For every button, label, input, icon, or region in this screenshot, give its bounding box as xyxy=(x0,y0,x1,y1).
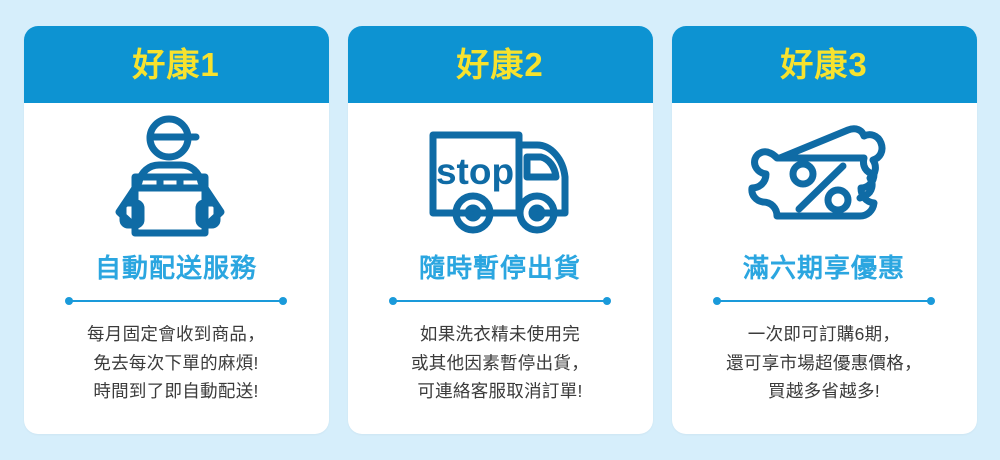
stop-icon-label: stop xyxy=(436,151,514,192)
divider-line xyxy=(717,300,931,302)
card-1-title: 自動配送服務 xyxy=(95,255,257,281)
card-3-header-title: 好康3 xyxy=(780,48,867,81)
card-2-header-title: 好康2 xyxy=(456,48,543,81)
discount-coupon-percent-icon xyxy=(744,111,904,251)
stop-truck-icon: stop xyxy=(417,111,583,251)
card-2-body: stop 隨時暫停出貨 如果洗衣精未使用完 或其他因素暫停出貨， 可連絡客服取消… xyxy=(348,103,653,434)
card-1-header: 好康1 xyxy=(24,26,329,103)
card-1-header-title: 好康1 xyxy=(132,48,219,81)
benefit-card-3: 好康3 滿六期享優惠 一次即可訂購6期， 還可享市場超優惠價格， xyxy=(672,26,977,434)
card-3-description-line-3: 買越多省越多! xyxy=(726,377,922,406)
divider-line xyxy=(69,300,283,302)
card-3-divider xyxy=(713,295,935,307)
card-1-divider xyxy=(65,295,287,307)
delivery-person-box-icon xyxy=(101,111,251,251)
card-1-body: 自動配送服務 每月固定會收到商品， 免去每次下單的麻煩! 時間到了即自動配送! xyxy=(24,103,329,434)
divider-dot-right xyxy=(279,297,287,305)
card-3-description-line-2: 還可享市場超優惠價格， xyxy=(726,349,922,378)
card-1-description-line-2: 免去每次下單的麻煩! xyxy=(87,349,265,378)
benefit-card-2: 好康2 stop 隨時暫停出貨 xyxy=(348,26,653,434)
card-2-title: 隨時暫停出貨 xyxy=(419,255,581,281)
card-3-description: 一次即可訂購6期， 還可享市場超優惠價格， 買越多省越多! xyxy=(726,320,922,406)
card-1-description-line-3: 時間到了即自動配送! xyxy=(87,377,265,406)
divider-line xyxy=(393,300,607,302)
card-1-description-line-1: 每月固定會收到商品， xyxy=(87,320,265,349)
benefits-card-board: 好康1 自動配送服務 xyxy=(0,0,1000,460)
card-1-description: 每月固定會收到商品， 免去每次下單的麻煩! 時間到了即自動配送! xyxy=(87,320,265,406)
card-2-header: 好康2 xyxy=(348,26,653,103)
card-2-description-line-3: 可連絡客服取消訂單! xyxy=(411,377,589,406)
card-3-body: 滿六期享優惠 一次即可訂購6期， 還可享市場超優惠價格， 買越多省越多! xyxy=(672,103,977,434)
divider-dot-right xyxy=(603,297,611,305)
card-2-description-line-1: 如果洗衣精未使用完 xyxy=(411,320,589,349)
divider-dot-right xyxy=(927,297,935,305)
card-3-header: 好康3 xyxy=(672,26,977,103)
benefit-card-1: 好康1 自動配送服務 xyxy=(24,26,329,434)
card-2-description-line-2: 或其他因素暫停出貨， xyxy=(411,349,589,378)
card-3-description-line-1: 一次即可訂購6期， xyxy=(726,320,922,349)
card-2-divider xyxy=(389,295,611,307)
card-2-description: 如果洗衣精未使用完 或其他因素暫停出貨， 可連絡客服取消訂單! xyxy=(411,320,589,406)
card-3-title: 滿六期享優惠 xyxy=(743,255,905,281)
